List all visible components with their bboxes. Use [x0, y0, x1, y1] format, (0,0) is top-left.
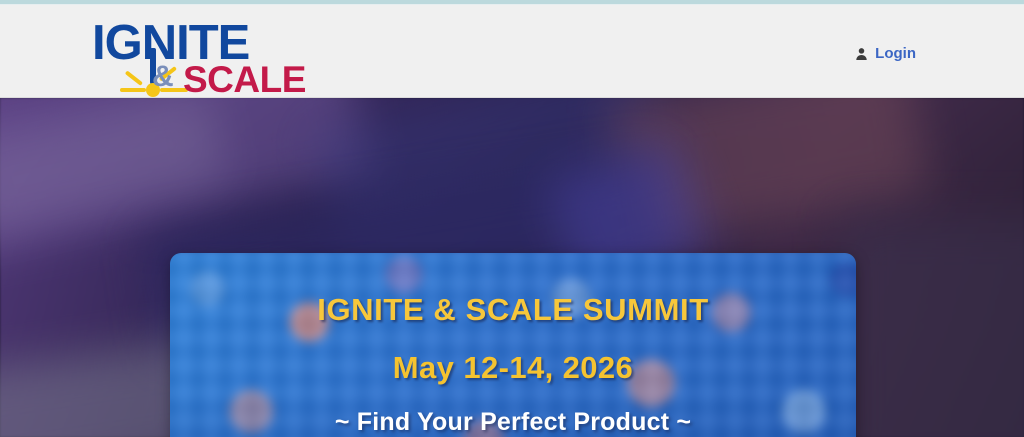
login-link[interactable]: Login	[855, 45, 916, 62]
banner-tagline: ~ Find Your Perfect Product ~	[335, 408, 691, 437]
logo-word-scale: SCALE	[183, 61, 306, 99]
banner-title: IGNITE & SCALE SUMMIT	[317, 292, 709, 328]
page-root: IGNITE & SCALE Login	[0, 0, 1024, 437]
banner-content: IGNITE & SCALE SUMMIT May 12-14, 2026 ~ …	[170, 253, 856, 437]
logo-ampersand: &	[152, 62, 174, 92]
hero-section: IGNITE & SCALE SUMMIT May 12-14, 2026 ~ …	[0, 98, 1024, 437]
banner-date: May 12-14, 2026	[393, 350, 633, 386]
user-icon	[855, 47, 868, 61]
login-label: Login	[875, 45, 916, 62]
site-header: IGNITE & SCALE Login	[0, 5, 1024, 98]
event-banner[interactable]: IGNITE & SCALE SUMMIT May 12-14, 2026 ~ …	[170, 253, 856, 437]
site-logo[interactable]: IGNITE & SCALE	[92, 18, 302, 96]
hero-bg-shape	[840, 218, 1024, 437]
